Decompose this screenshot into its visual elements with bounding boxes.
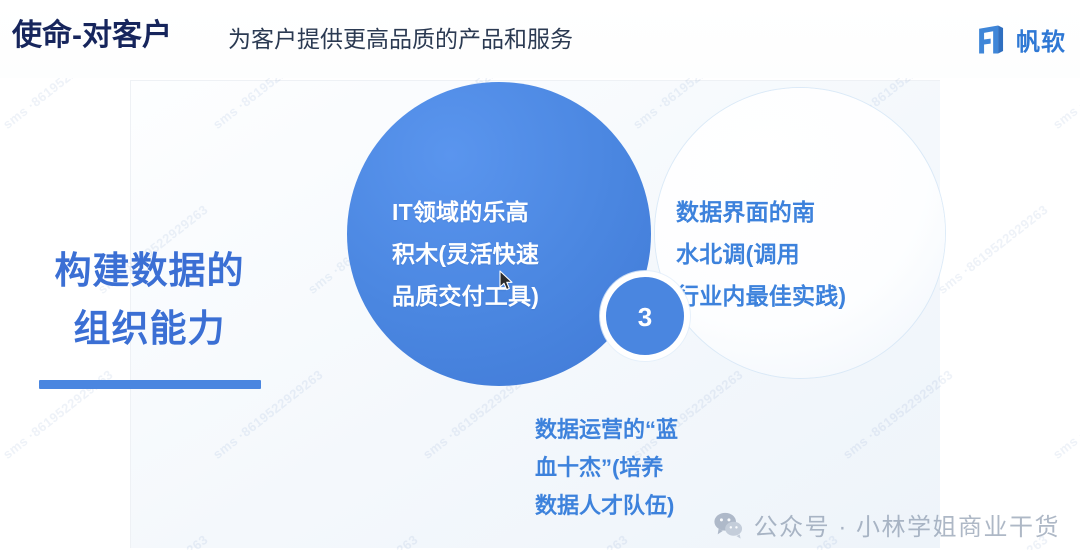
step-number-value: 3 — [638, 302, 652, 330]
left-headline-block: 构建数据的 组织能力 — [22, 242, 277, 389]
heading-underline-rule — [39, 380, 261, 389]
fanruan-logo-icon — [975, 23, 1008, 56]
wechat-icon — [713, 510, 743, 540]
venn-circle-left-label: IT领域的乐高 积木(灵活快速 品质交付工具) — [392, 191, 622, 317]
page-subtitle: 为客户提供更高品质的产品和服务 — [228, 24, 573, 54]
step-number-badge[interactable]: 3 — [600, 271, 690, 361]
brand-name: 帆软 — [1016, 22, 1066, 57]
left-heading-text: 构建数据的 组织能力 — [22, 242, 277, 358]
brand-lockup: 帆软 — [975, 22, 1066, 57]
slide-canvas: 使命-对客户 为客户提供更高品质的产品和服务 帆软 构建数据的 组织能力 IT领… — [0, 0, 1080, 550]
page-title: 使命-对客户 — [12, 17, 172, 55]
account-watermark: 公众号 · 小林学姐商业干货 — [713, 507, 1060, 542]
slide-header: 使命-对客户 为客户提供更高品质的产品和服务 帆软 — [0, 0, 1080, 78]
venn-circle-right-label: 数据界面的南 水北调(调用 行业内最佳实践) — [676, 191, 906, 317]
account-watermark-label: 公众号 · 小林学姐商业干货 — [754, 507, 1060, 542]
